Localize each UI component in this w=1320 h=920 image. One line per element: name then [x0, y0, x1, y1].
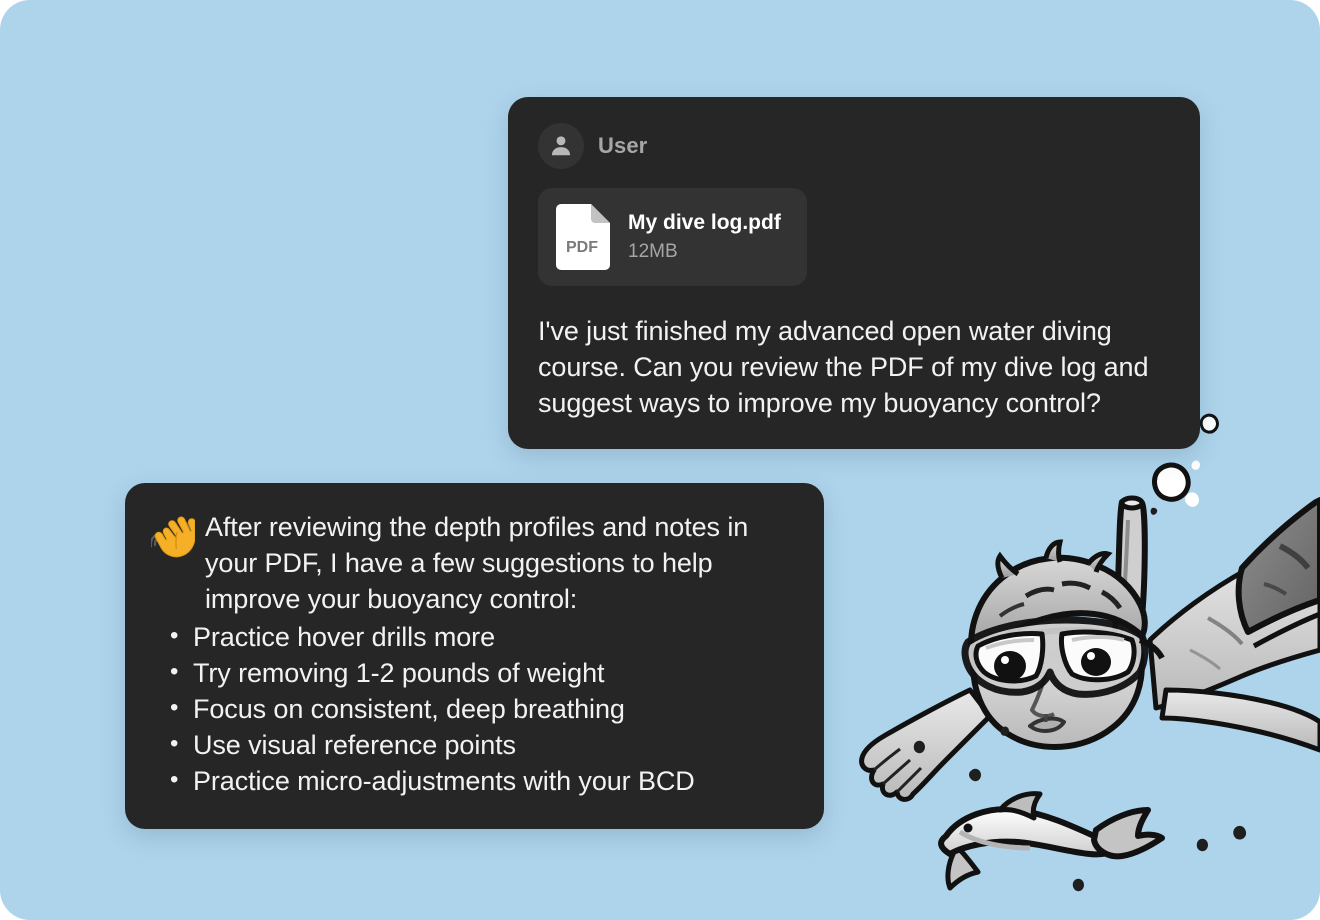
dive-mask-icon [965, 620, 1162, 694]
list-item: Use visual reference points [167, 727, 794, 763]
diver-wetsuit-shorts [1239, 500, 1320, 646]
avatar [538, 123, 584, 169]
diver-face [973, 630, 1141, 747]
svg-text:PDF: PDF [566, 239, 598, 256]
snorkeler-underwater-illustration [850, 450, 1320, 920]
user-message-bubble: User PDF My dive log.pdf 12MB I've just … [508, 97, 1200, 449]
file-size-label: 12MB [628, 241, 781, 263]
fish-icon [941, 794, 1162, 888]
waving-hand-emoji [151, 515, 195, 559]
assistant-message-bubble: After reviewing the depth profiles and n… [125, 483, 824, 829]
app-canvas: User PDF My dive log.pdf 12MB I've just … [0, 0, 1320, 920]
list-item: Practice micro-adjustments with your BCD [167, 763, 794, 799]
file-name-label: My dive log.pdf [628, 211, 781, 235]
file-meta: My dive log.pdf 12MB [628, 211, 781, 263]
diver-left-arm [862, 690, 990, 799]
pdf-file-icon: PDF [556, 204, 610, 270]
assistant-intro-row: After reviewing the depth profiles and n… [151, 509, 794, 617]
list-item: Focus on consistent, deep breathing [167, 691, 794, 727]
diver-torso [1150, 546, 1320, 708]
snorkel-icon [1102, 498, 1145, 703]
list-item: Practice hover drills more [167, 619, 794, 655]
person-avatar-icon [548, 133, 574, 159]
user-name-label: User [598, 133, 647, 159]
assistant-suggestion-list: Practice hover drills more Try removing … [151, 619, 794, 799]
user-message-text: I've just finished my advanced open wate… [538, 313, 1170, 421]
assistant-intro-text: After reviewing the depth profiles and n… [205, 509, 794, 617]
diver-hair [971, 542, 1145, 656]
diver-right-arm [1162, 690, 1320, 750]
list-item: Try removing 1-2 pounds of weight [167, 655, 794, 691]
file-attachment-card[interactable]: PDF My dive log.pdf 12MB [538, 188, 807, 286]
user-header: User [538, 123, 1170, 169]
